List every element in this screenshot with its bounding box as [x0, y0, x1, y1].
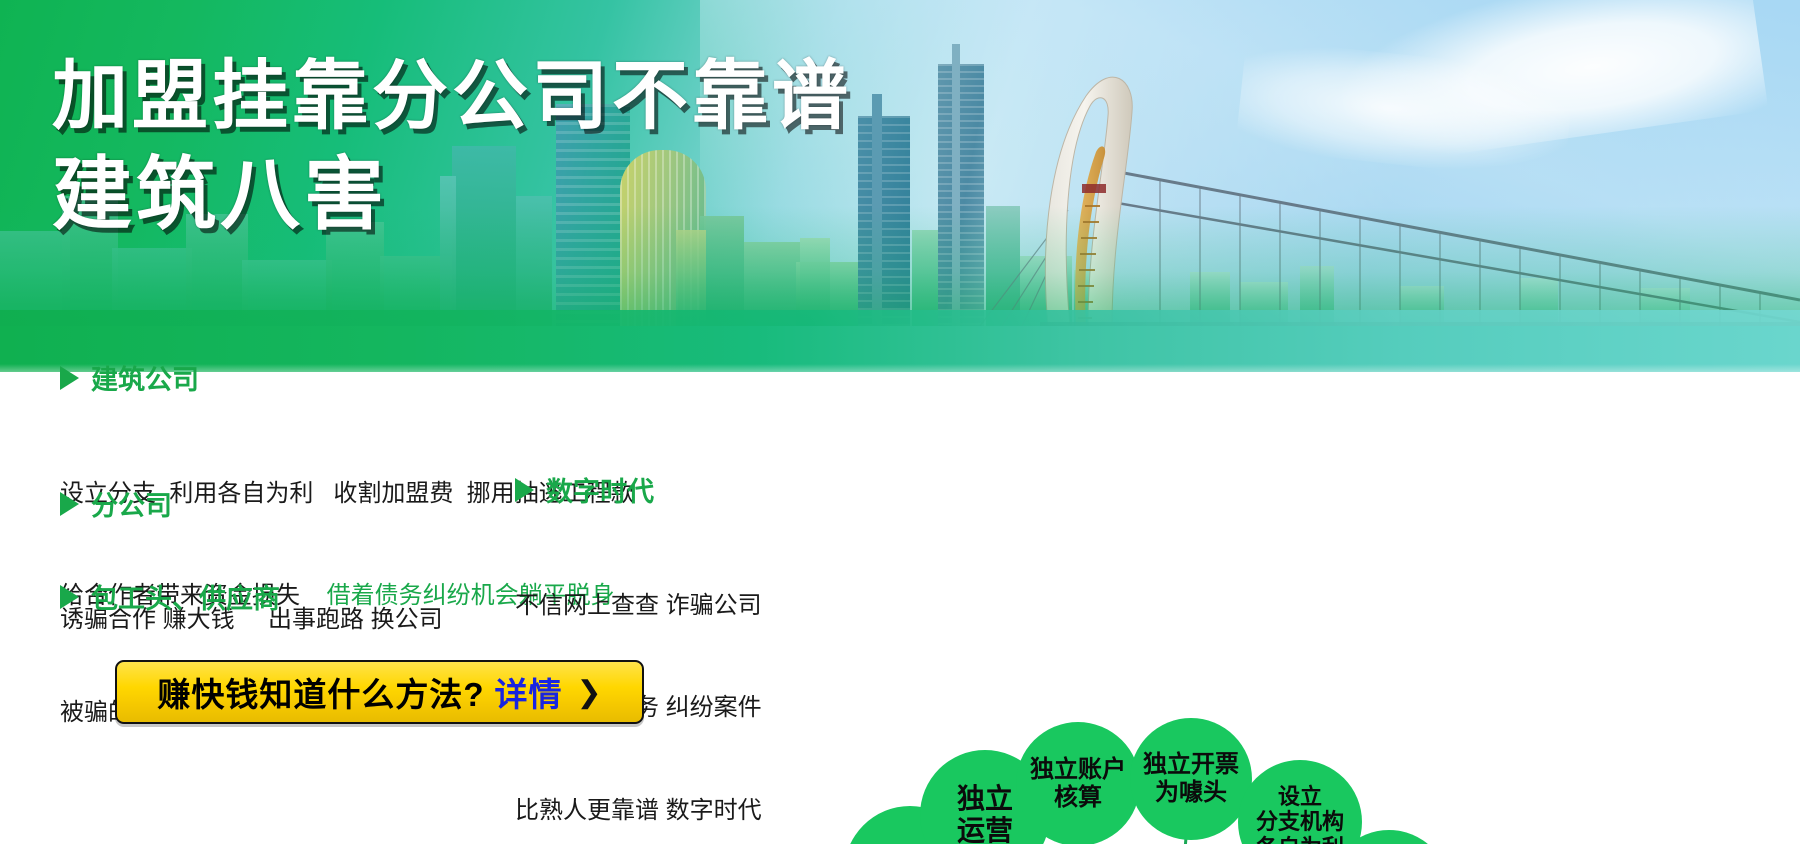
bubble-5[interactable]: 独立开票 为噱头: [1130, 718, 1252, 840]
section-heading-digital-era: 数字时代: [515, 470, 845, 509]
section-heading-label: 分公司: [91, 484, 172, 523]
section-heading-label: 包工头、供应商: [91, 577, 280, 616]
section-heading-label: 数字时代: [546, 470, 654, 509]
hero-title-line-2: 建筑八害: [52, 152, 852, 238]
section-line: 不信网上查查 诈骗公司: [515, 589, 845, 623]
section-heading-label: 建筑公司: [91, 358, 199, 397]
triangle-bullet-icon: [515, 478, 534, 502]
chevron-right-icon: ❯: [577, 675, 602, 710]
cta-details-button[interactable]: 赚快钱知道什么方法? 详情 ❯: [115, 660, 644, 724]
cta-link-label: 详情: [495, 668, 563, 716]
triangle-bullet-icon: [60, 585, 79, 609]
cta-label: 赚快钱知道什么方法?: [157, 668, 484, 716]
section-heading-construction-company: 建筑公司: [60, 358, 680, 397]
content-area: 建筑公司 设立分支 利用各自为利 收割加盟费 挪用抽逃工程款 给合作者带来资金损…: [0, 372, 1800, 844]
triangle-bullet-icon: [60, 492, 79, 516]
eight-harms-diagram: 建筑八害 借着使用 总公司资质 业绩和荣誉 独立承揽 签订合同 独立 运营 独立…: [790, 702, 1800, 844]
bubble-4[interactable]: 独立账户 核算: [1016, 722, 1140, 844]
hero-title-line-1: 加盟挂靠分公司不靠谱: [52, 56, 852, 138]
triangle-bullet-icon: [60, 366, 79, 390]
hero-title: 加盟挂靠分公司不靠谱 建筑八害: [52, 56, 852, 238]
section-heading-branch-company: 分公司: [60, 484, 530, 523]
promo-banner-page: 加盟挂靠分公司不靠谱 建筑八害 建筑公司 设立分支 利用各自为利 收割加盟费 挪…: [0, 0, 1800, 844]
skyline-base-strip: [0, 310, 1800, 326]
hero-banner: 加盟挂靠分公司不靠谱 建筑八害: [0, 0, 1800, 372]
